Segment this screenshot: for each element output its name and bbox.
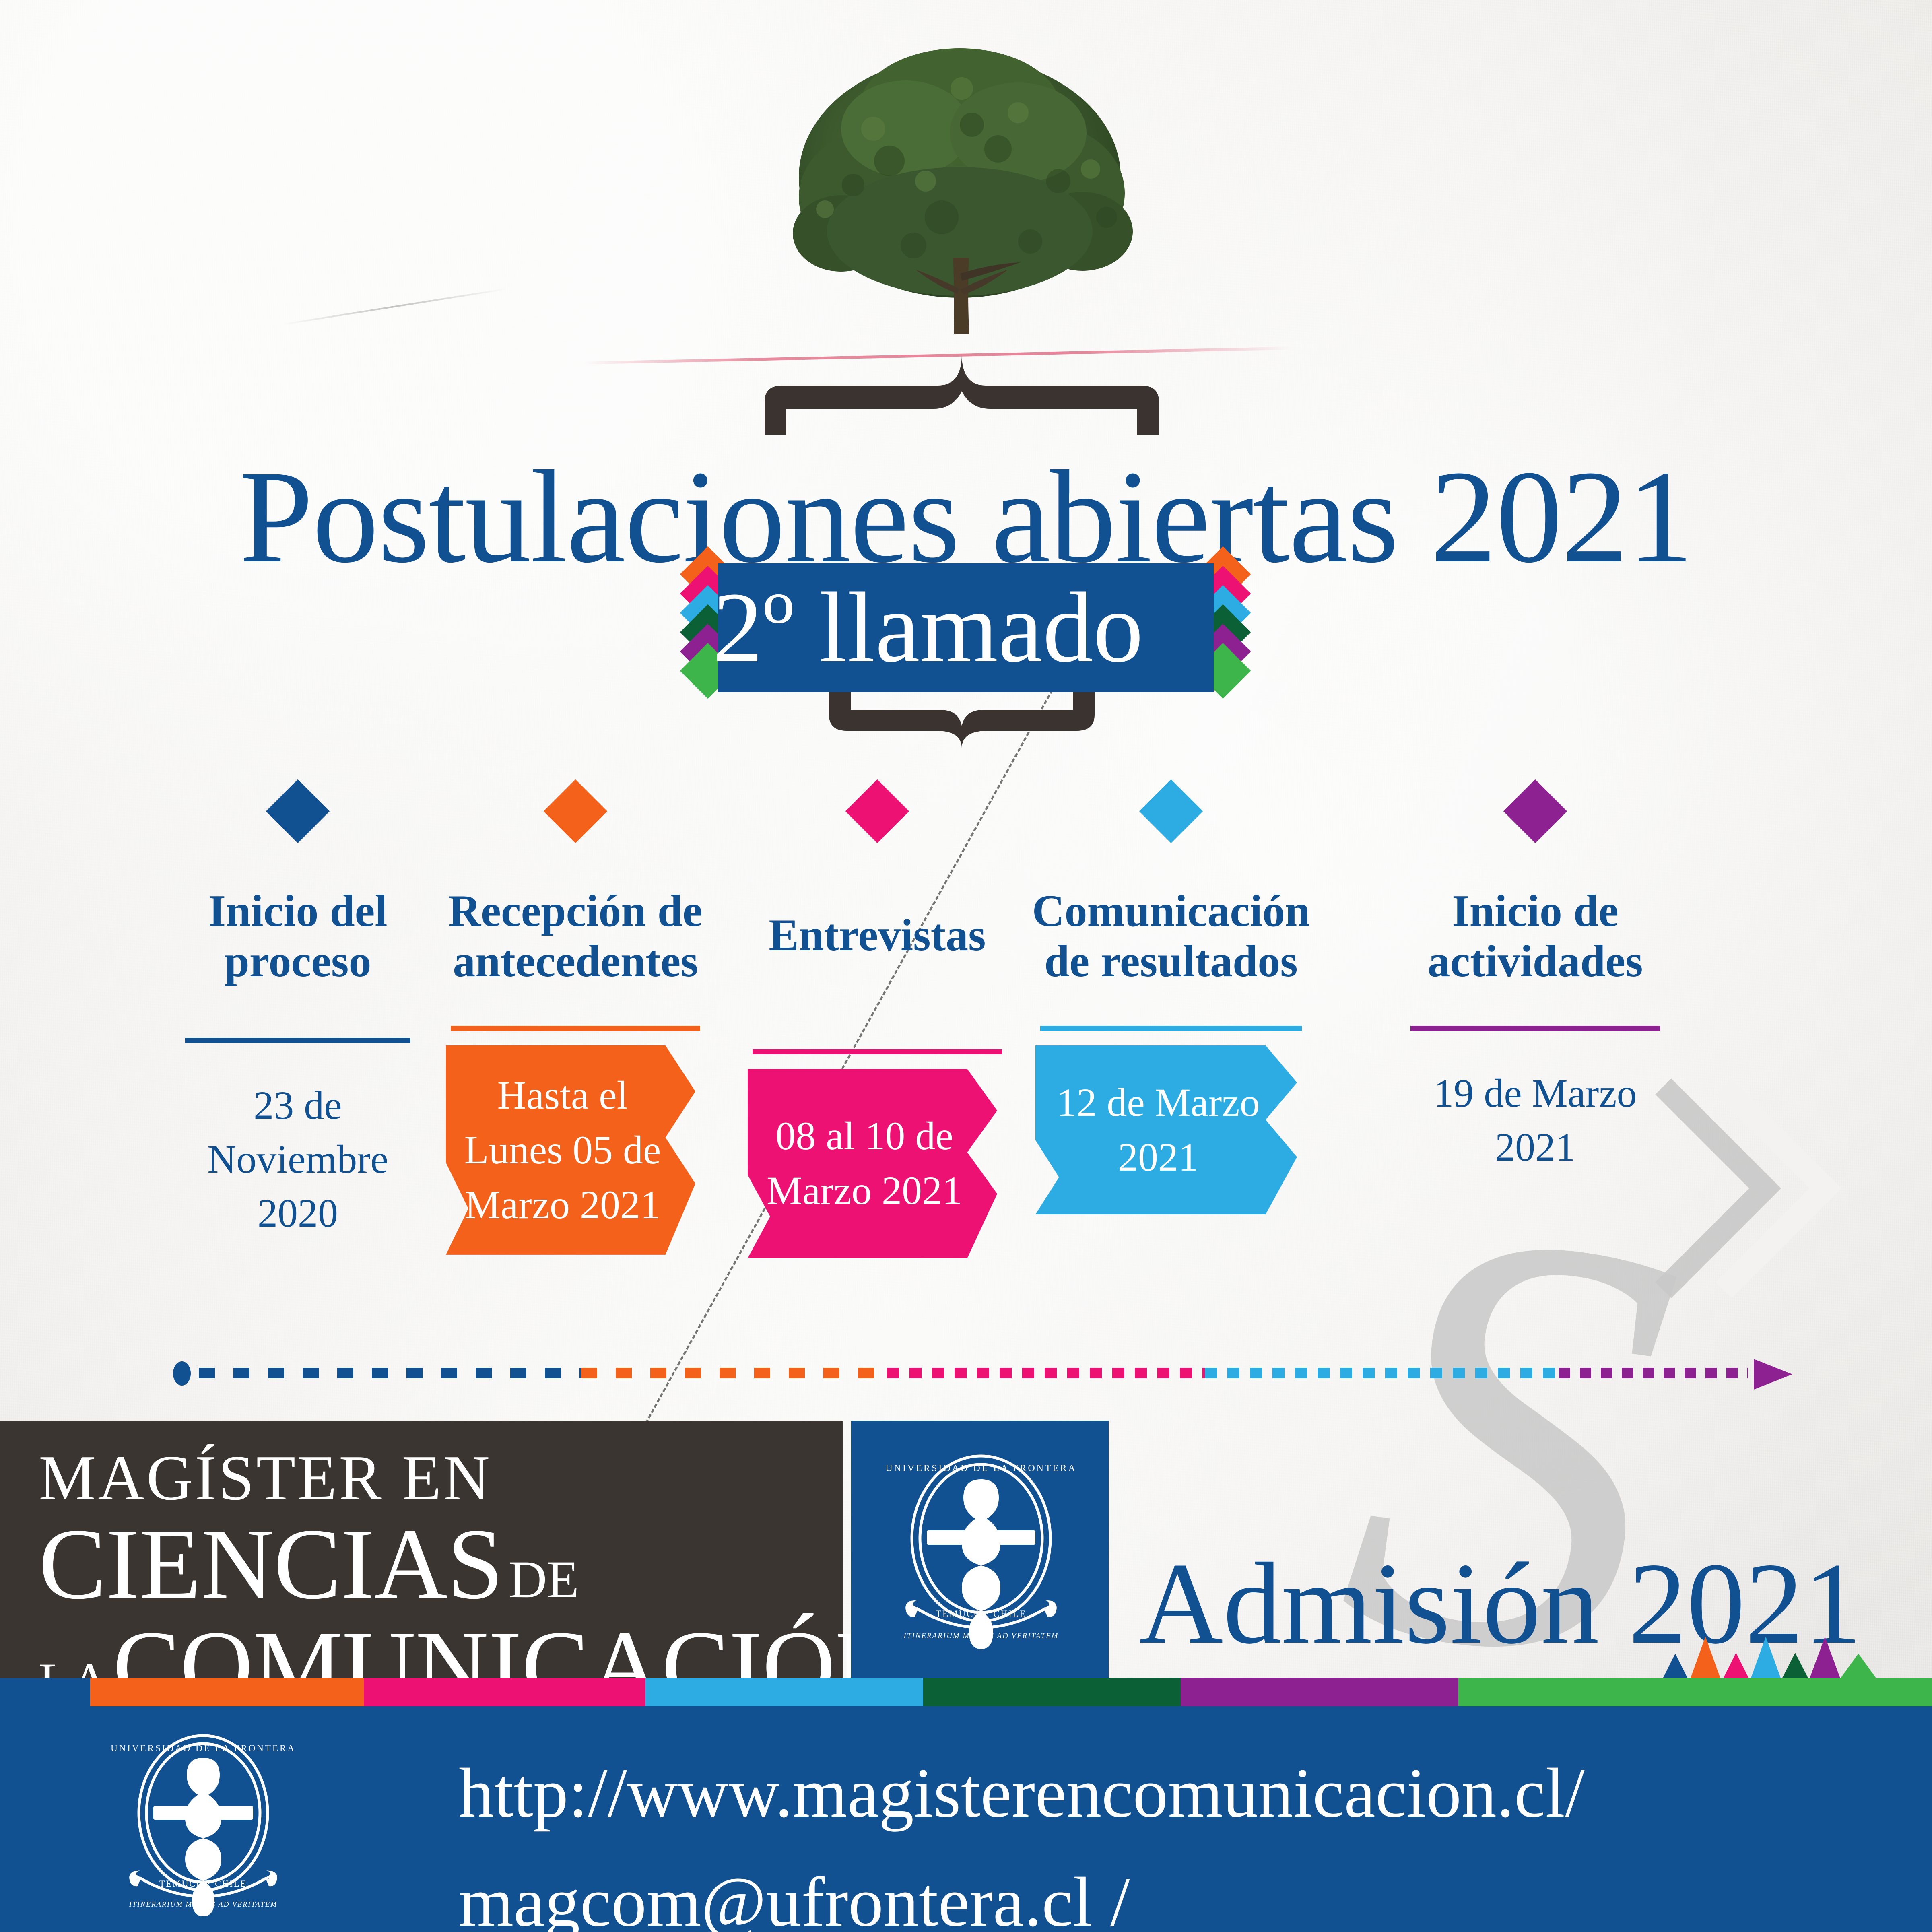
axis-segment-lightblue bbox=[1205, 1368, 1559, 1378]
brand-line-2-main: CIENCIAS bbox=[39, 1515, 503, 1613]
timeline-step: Entrevistas08 al 10 deMarzo 2021 bbox=[736, 789, 1018, 1258]
axis-segment-blue bbox=[199, 1368, 581, 1378]
tree-illustration bbox=[753, 48, 1167, 366]
timeline-step-date-badge: 08 al 10 deMarzo 2021 bbox=[748, 1069, 997, 1258]
seal-city-text: TEMUCO · CHILE bbox=[159, 1878, 247, 1889]
diamond-marker-purple bbox=[1503, 779, 1567, 843]
website-url[interactable]: http://www.magisterencomunicacion.cl/ bbox=[459, 1738, 1867, 1847]
diamond-marker-lightblue bbox=[1139, 779, 1203, 843]
program-brand-band: MAGÍSTER EN CIENCIAS DE LA COMUNICACIÓN bbox=[0, 1421, 1932, 1702]
timeline-step-rule bbox=[1040, 1026, 1302, 1031]
color-stripe bbox=[364, 1678, 645, 1707]
timeline-step: Comunicaciónde resultados12 de Marzo2021 bbox=[1014, 789, 1328, 1214]
poster-canvas: S bbox=[0, 0, 1932, 1932]
timeline-step-date: 12 de Marzo2021 bbox=[1044, 1075, 1288, 1185]
timeline-step: Inicio deactividades19 de Marzo2021 bbox=[1364, 789, 1706, 1174]
program-name: MAGÍSTER EN CIENCIAS DE LA COMUNICACIÓN bbox=[39, 1445, 827, 1715]
seal-outer-text: UNIVERSIDAD DE LA FRONTERA bbox=[111, 1743, 296, 1753]
color-stripe bbox=[923, 1678, 1181, 1707]
second-call-badge: 2º llamado bbox=[680, 563, 1252, 692]
timeline-step-rule bbox=[753, 1049, 1002, 1054]
ufro-university-seal-icon-footer: UNIVERSIDAD DE LA FRONTERA TEMUCO · CHIL… bbox=[95, 1730, 312, 1920]
curly-brace-up-icon bbox=[829, 692, 1095, 748]
timeline-step-date: Hasta elLunes 05 deMarzo 2021 bbox=[452, 1068, 689, 1232]
ufro-university-seal-icon: UNIVERSIDAD DE LA FRONTERA TEMUCO · CHIL… bbox=[887, 1448, 1076, 1649]
timeline-step-rule bbox=[451, 1026, 700, 1031]
badge-label: 2º llamado bbox=[680, 563, 1176, 692]
axis-segment-purple bbox=[1559, 1368, 1748, 1378]
timeline-step-title: Recepción deantecedentes bbox=[423, 886, 728, 987]
diamond-marker-blue bbox=[266, 779, 330, 843]
axis-arrow-head bbox=[1754, 1359, 1792, 1390]
color-stripe bbox=[645, 1678, 923, 1707]
brand-line-2-small: DE bbox=[509, 1554, 579, 1605]
timeline-step-rule bbox=[1410, 1026, 1660, 1031]
axis-segment-orange bbox=[581, 1368, 887, 1378]
timeline-step-date-badge: Hasta elLunes 05 deMarzo 2021 bbox=[446, 1045, 695, 1255]
timeline-step-date: 08 al 10 deMarzo 2021 bbox=[755, 1109, 990, 1218]
contact-footer: UNIVERSIDAD DE LA FRONTERA TEMUCO · CHIL… bbox=[0, 1706, 1932, 1932]
color-stripe-row bbox=[0, 1678, 1932, 1707]
seal-motto-text: ITINERARIUM MENTIS AD VERITATEM bbox=[129, 1900, 277, 1908]
timeline-step-title: Inicio deactividades bbox=[1394, 886, 1676, 987]
timeline-step: Recepción deantecedentesHasta elLunes 05… bbox=[423, 789, 728, 1255]
seal-city-text: TEMUCO · CHILE bbox=[936, 1609, 1027, 1619]
brand-dark-panel: MAGÍSTER EN CIENCIAS DE LA COMUNICACIÓN bbox=[0, 1421, 843, 1678]
brand-line-2: CIENCIAS DE bbox=[39, 1515, 827, 1613]
curly-brace-down-icon bbox=[765, 354, 1159, 435]
contact-email[interactable]: magcom@ufrontera.cl / bbox=[459, 1847, 1867, 1932]
timeline-step-date-badge: 12 de Marzo2021 bbox=[1035, 1045, 1297, 1214]
brand-line-1: MAGÍSTER EN bbox=[39, 1445, 827, 1510]
color-stripe bbox=[1458, 1678, 1932, 1707]
diamond-marker-orange bbox=[544, 779, 607, 843]
timeline-step-rule bbox=[185, 1038, 410, 1043]
admissions-timeline: Inicio delproceso23 deNoviembre2020Recep… bbox=[157, 789, 1807, 1384]
timeline-step-date: 23 deNoviembre2020 bbox=[185, 1078, 410, 1240]
dotted-timeline-arrow bbox=[173, 1358, 1791, 1382]
seal-motto-text: ITINERARIUM MENTIS AD VERITATEM bbox=[903, 1632, 1058, 1640]
grey-scratch-decoration bbox=[283, 288, 506, 325]
axis-start-dot bbox=[173, 1361, 191, 1386]
timeline-step-title: Comunicaciónde resultados bbox=[1006, 886, 1336, 987]
diamond-marker-pink bbox=[845, 779, 909, 843]
timeline-step-title: Entrevistas bbox=[736, 910, 1018, 961]
timeline-step: Inicio delproceso23 deNoviembre2020 bbox=[157, 789, 439, 1240]
brand-seal-panel: UNIVERSIDAD DE LA FRONTERA TEMUCO · CHIL… bbox=[851, 1421, 1109, 1678]
axis-segment-pink bbox=[887, 1368, 1205, 1378]
contact-details: http://www.magisterencomunicacion.cl/ ma… bbox=[459, 1738, 1867, 1932]
color-stripe bbox=[90, 1678, 364, 1707]
timeline-step-date: 19 de Marzo2021 bbox=[1410, 1066, 1660, 1174]
color-stripe bbox=[0, 1678, 90, 1707]
timeline-step-title: Inicio delproceso bbox=[185, 886, 410, 987]
seal-outer-text: UNIVERSIDAD DE LA FRONTERA bbox=[887, 1463, 1076, 1474]
color-stripe bbox=[1181, 1678, 1458, 1707]
